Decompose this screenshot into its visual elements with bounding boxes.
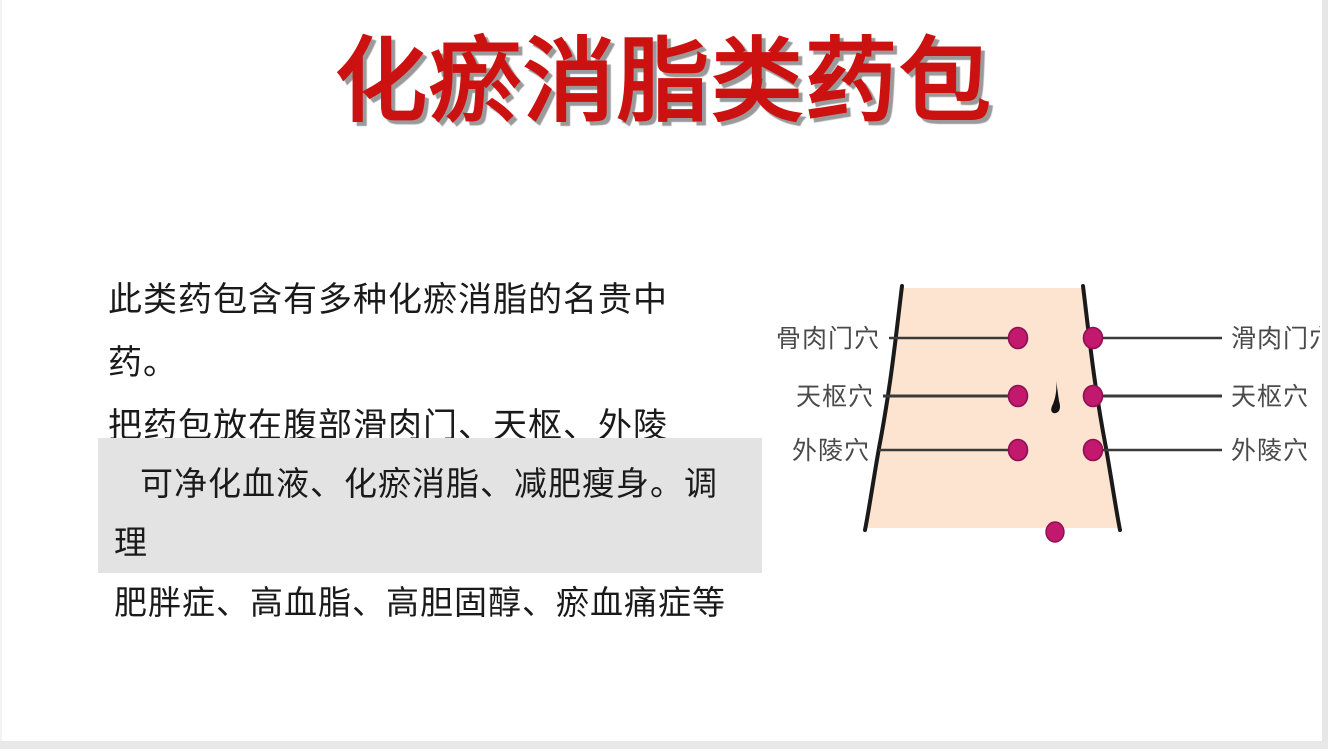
- benefit-line-2: 肥胖症、高血脂、高胆固醇、瘀血痛症等: [114, 575, 746, 634]
- acupoint-label-left-3: 外陵穴: [792, 436, 870, 465]
- abdomen-acupoint-diagram: 骨肉门穴 天枢穴 外陵穴 滑肉门穴 天枢穴 外陵穴: [775, 280, 1320, 545]
- acupoint-dot-lower-midline: [1046, 522, 1064, 542]
- acupoint-label-right-2: 天枢穴: [1231, 382, 1309, 411]
- torso-skin-fill: [865, 288, 1120, 528]
- acupoint-label-right-1: 滑肉门穴: [1231, 324, 1320, 353]
- acupoint-dot-left-huaroumen: [1009, 328, 1028, 349]
- acupoint-dot-right-wailing: [1084, 440, 1103, 461]
- benefit-callout-box: 可净化血液、化瘀消脂、减肥瘦身。调理 肥胖症、高血脂、高胆固醇、瘀血痛症等: [98, 438, 762, 573]
- acupoint-label-right-3: 外陵穴: [1231, 436, 1309, 465]
- intro-line-1: 此类药包含有多种化瘀消脂的名贵中药。: [108, 270, 728, 396]
- acupoint-dot-right-huaroumen: [1084, 328, 1103, 349]
- acupoint-dot-left-tianshu: [1009, 386, 1028, 407]
- slide: 化瘀消脂类药包 此类药包含有多种化瘀消脂的名贵中药。 把药包放在腹部滑肉门、天枢…: [0, 0, 1328, 749]
- acupoint-label-left-1: 骨肉门穴: [776, 324, 880, 353]
- acupoint-dot-right-tianshu: [1084, 386, 1103, 407]
- slide-frame-bottom-edge: [0, 741, 1328, 749]
- benefit-line-1: 可净化血液、化瘀消脂、减肥瘦身。调理: [114, 456, 746, 575]
- acupoint-dot-left-wailing: [1009, 440, 1028, 461]
- acupoint-label-left-2: 天枢穴: [796, 382, 874, 411]
- page-title: 化瘀消脂类药包: [0, 34, 1328, 131]
